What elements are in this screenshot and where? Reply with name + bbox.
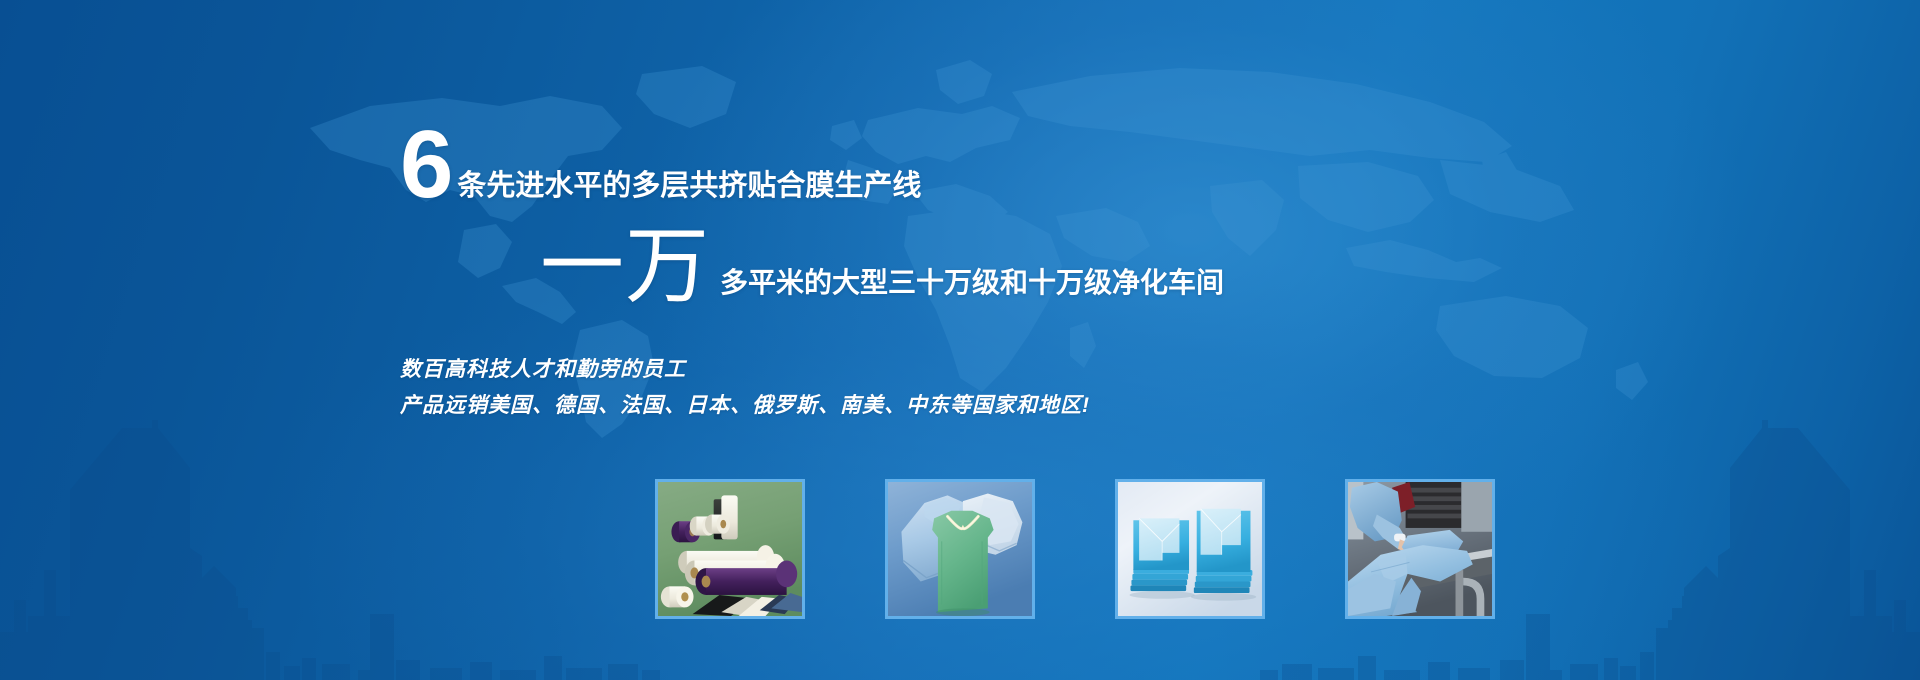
product-thumbnail-strip (655, 479, 1415, 619)
thumbnail-surgical-gowns[interactable] (885, 479, 1035, 619)
headline-secondary: 一万 多平米的大型三十万级和十万级净化车间 (540, 228, 1224, 305)
headline-1-number: 6 (400, 124, 451, 207)
medical-underpads-photo (1118, 482, 1262, 616)
thumbnail-plastic-film-rolls[interactable] (655, 479, 805, 619)
promo-banner: 6 条先进水平的多层共挤贴合膜生产线 一万 多平米的大型三十万级和十万级净化车间… (0, 0, 1920, 680)
headline-primary: 6 条先进水平的多层共挤贴合膜生产线 (400, 124, 921, 207)
headline-2-text: 多平米的大型三十万级和十万级净化车间 (720, 269, 1224, 297)
hospital-bed-drape-photo (1348, 482, 1492, 616)
headline-1-text: 条先进水平的多层共挤贴合膜生产线 (457, 172, 921, 201)
tagline-line-2: 产品远销美国、德国、法国、日本、俄罗斯、南美、中东等国家和地区! (400, 388, 1090, 424)
surgical-gowns-photo (888, 482, 1032, 616)
thumbnail-hospital-bed-drape[interactable] (1345, 479, 1495, 619)
thumbnail-medical-underpads[interactable] (1115, 479, 1265, 619)
tagline-line-1: 数百高科技人才和勤劳的员工 (400, 352, 1090, 388)
headline-2-number: 一万 (540, 228, 710, 305)
tagline-group: 数百高科技人才和勤劳的员工 产品远销美国、德国、法国、日本、俄罗斯、南美、中东等… (400, 352, 1090, 424)
plastic-film-rolls-photo (658, 482, 802, 616)
